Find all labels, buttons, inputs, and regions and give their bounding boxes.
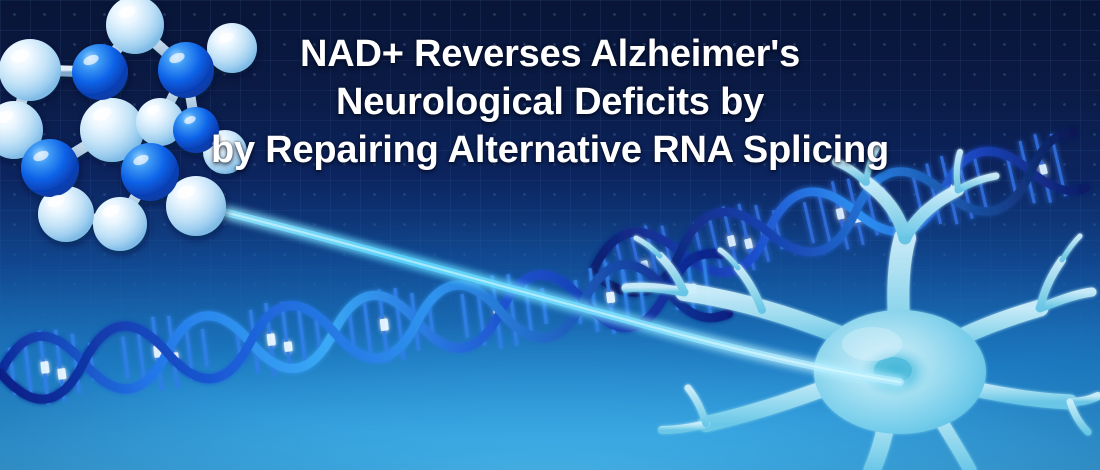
- banner-hero: NAD+ Reverses Alzheimer's Neurological D…: [0, 0, 1100, 470]
- molecular-model: [0, 0, 1100, 470]
